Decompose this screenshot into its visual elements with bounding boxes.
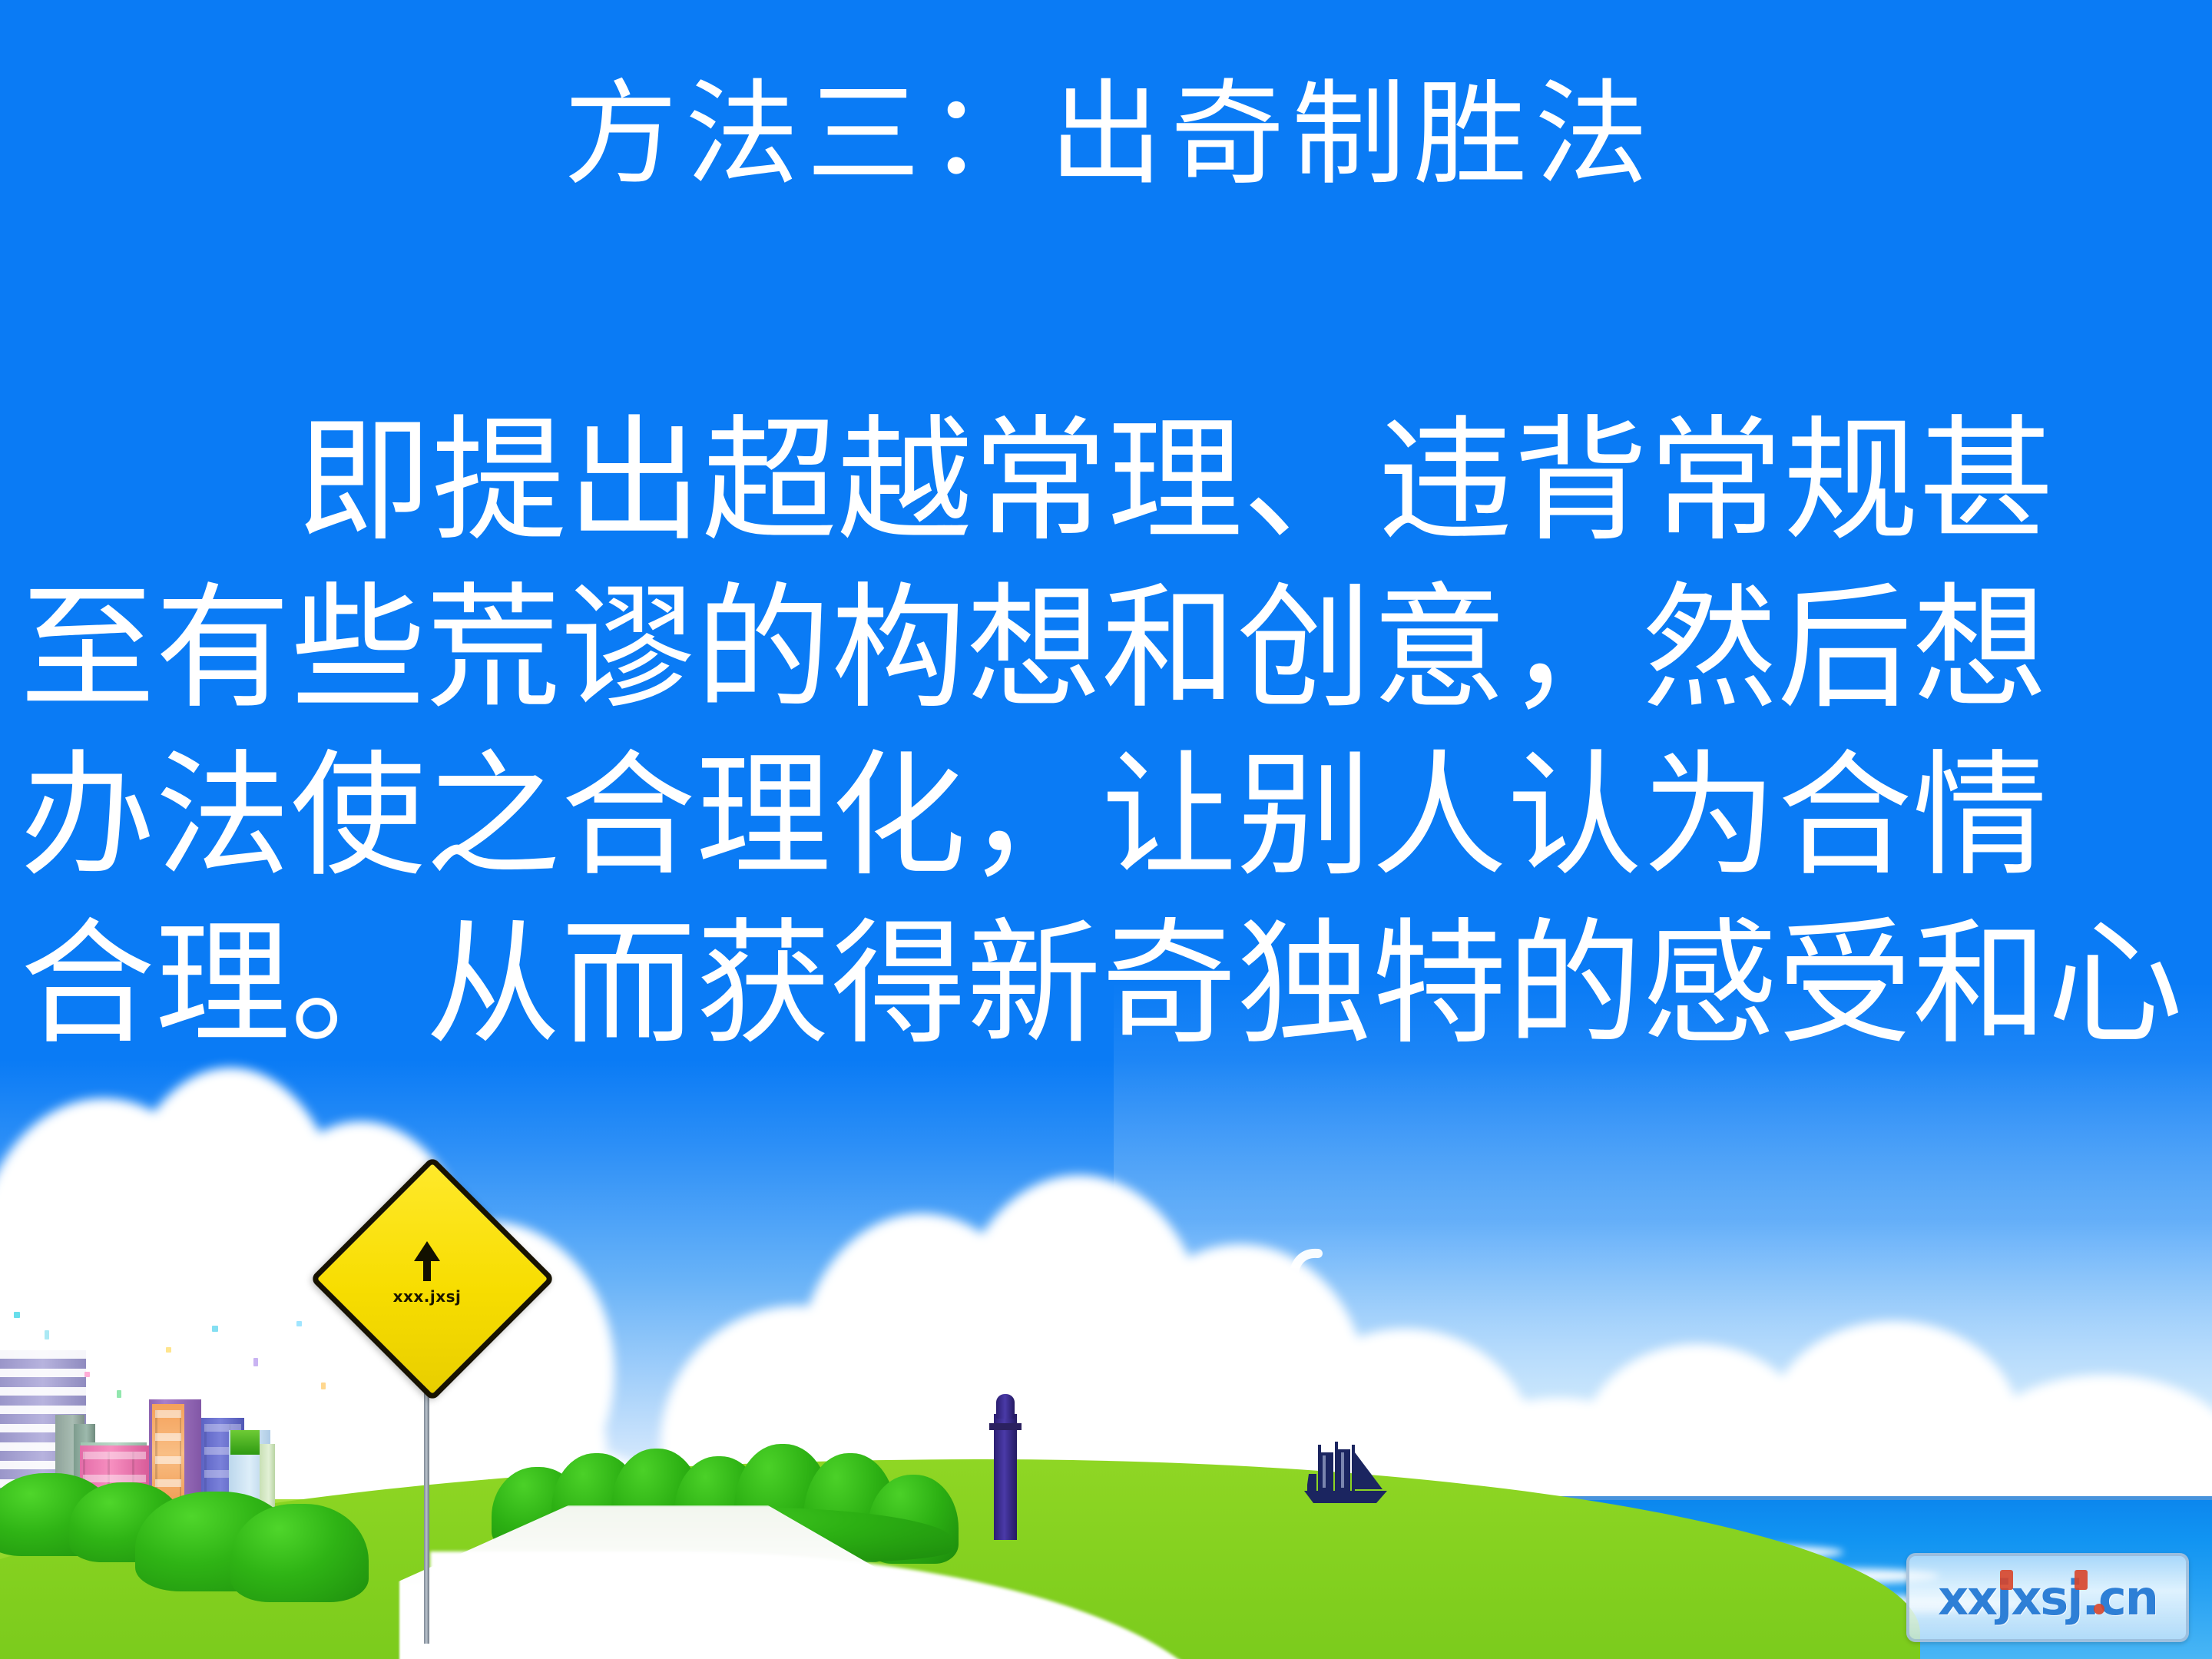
lighthouse-body bbox=[994, 1414, 1017, 1540]
lighthouse-gallery bbox=[989, 1423, 1022, 1430]
bush-left-4 bbox=[230, 1504, 369, 1602]
body-line-3: 办法使之合理化，让别人认为合情 bbox=[20, 734, 2163, 902]
confetti-6 bbox=[212, 1326, 218, 1332]
lighthouse-lantern bbox=[996, 1394, 1015, 1419]
confetti-1 bbox=[14, 1312, 20, 1318]
presentation-slide: xxx.jxsj 方法三：出奇制胜法 即提出超越常理、违背常规甚 至有些荒谬的构… bbox=[0, 0, 2212, 1659]
confetti-7 bbox=[253, 1358, 258, 1366]
slide-body: 即提出超越常理、违背常规甚 至有些荒谬的构想和创意，然后想 办法使之合理化，让别… bbox=[20, 399, 2163, 1070]
confetti-8 bbox=[296, 1321, 302, 1326]
body-line-4: 合理。从而获得新奇独特的感受和心 bbox=[20, 902, 2163, 1070]
watermark-dot-1 bbox=[2000, 1570, 2013, 1590]
watermark-dot-2 bbox=[2075, 1570, 2088, 1590]
watermark-dot-3 bbox=[2094, 1604, 2104, 1614]
sailboat-icon bbox=[1296, 1440, 1398, 1509]
watermark-badge: xxjxsj.cn bbox=[1906, 1553, 2189, 1642]
confetti-4 bbox=[117, 1390, 121, 1398]
up-arrow-icon bbox=[414, 1241, 440, 1261]
confetti-2 bbox=[45, 1330, 49, 1339]
confetti-5 bbox=[166, 1347, 171, 1353]
building-green-sign bbox=[230, 1430, 260, 1455]
cloud-wisp-squiggle bbox=[1227, 1237, 1366, 1359]
road-sign-label: xxx.jxsj bbox=[393, 1287, 462, 1306]
horizon-haze-2 bbox=[1582, 1458, 2120, 1488]
watermark-text: xxjxsj.cn bbox=[1938, 1570, 2157, 1626]
body-line-2: 至有些荒谬的构想和创意，然后想 bbox=[20, 567, 2163, 734]
confetti-9 bbox=[321, 1382, 326, 1389]
lighthouse bbox=[989, 1394, 1022, 1540]
slide-title: 方法三：出奇制胜法 bbox=[0, 71, 2212, 203]
road-sign-content: xxx.jxsj bbox=[346, 1192, 508, 1355]
confetti-3 bbox=[84, 1372, 90, 1377]
body-line-1: 即提出超越常理、违背常规甚 bbox=[20, 399, 2163, 567]
